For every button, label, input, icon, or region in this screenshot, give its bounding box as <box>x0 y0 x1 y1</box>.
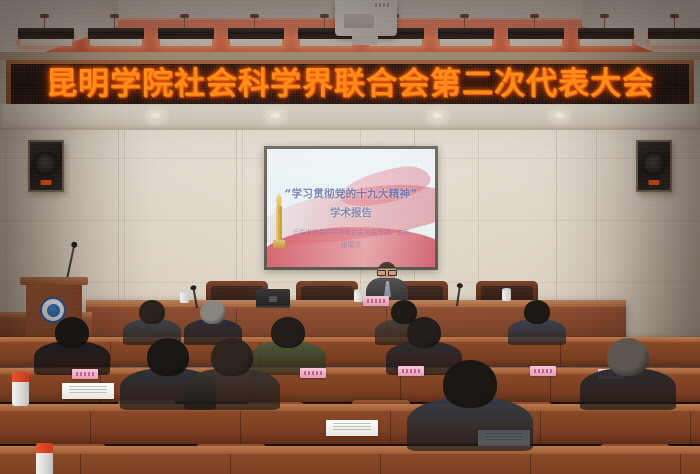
slide-subtitle: 学术报告 <box>267 205 435 220</box>
person-head <box>211 338 253 376</box>
glasses-icon <box>377 270 397 274</box>
thermos-lid <box>12 372 29 382</box>
slide-presenter-line: 云南省社会科学界联合会党组书记、主席 <box>267 227 435 239</box>
recessed-downlight <box>268 112 283 120</box>
desk-seam <box>230 454 231 474</box>
slide-presenter-name: 张瑞才 <box>267 239 435 252</box>
ceiling-light-fixture <box>578 28 634 48</box>
desk-seam <box>690 411 691 444</box>
desk-seam <box>380 454 381 474</box>
audience-desk-row <box>0 446 700 474</box>
podium-top <box>20 277 88 285</box>
person-head <box>443 360 497 408</box>
projection-screen-surface: “学习贯彻党的十九大精神” 学术报告 云南省社会科学界联合会党组书记、主席 张瑞… <box>267 149 435 267</box>
audience-person <box>407 360 533 462</box>
person-head <box>407 317 441 348</box>
person-head <box>524 300 550 324</box>
audience-person <box>184 338 280 418</box>
wall-speaker-right <box>636 140 672 192</box>
recessed-downlight <box>430 112 445 120</box>
person-head <box>607 338 649 376</box>
person-head <box>139 300 165 324</box>
desk-seam <box>110 342 111 367</box>
ceiling-light-fixture <box>18 28 74 48</box>
speaker-cone-icon <box>34 152 58 176</box>
desk-seam <box>80 454 81 474</box>
slide-title: “学习贯彻党的十九大精神” <box>267 187 435 202</box>
projection-screen: “学习贯彻党的十九大精神” 学术报告 云南省社会科学界联合会党组书记、主席 张瑞… <box>264 146 438 270</box>
banner-title-text: 昆明学院社会科学界联合会第二次代表大会 <box>46 69 654 100</box>
ceiling-light-fixture <box>438 28 494 48</box>
person-head <box>147 338 189 376</box>
recessed-downlight <box>552 112 567 120</box>
ceiling-light-fixture <box>648 28 700 48</box>
wall-speaker-left <box>28 140 64 192</box>
thermos-lid <box>36 443 53 453</box>
projector-mount <box>352 36 378 45</box>
ceiling-soffit <box>0 104 700 130</box>
desk-seam <box>680 454 681 474</box>
desk-seam <box>90 411 91 444</box>
person-head <box>200 300 226 324</box>
audience-person <box>508 300 566 350</box>
ceiling-light-fixture <box>88 28 144 48</box>
led-banner-frame: 昆明学院社会科学界联合会第二次代表大会 <box>6 60 694 108</box>
recessed-downlight <box>148 112 163 120</box>
desk-seam <box>550 374 551 402</box>
desk-seam <box>540 411 541 444</box>
ceiling-light-fixture <box>228 28 284 48</box>
ceiling-projector <box>335 0 397 36</box>
name-placard <box>300 368 326 378</box>
thermos-bottle <box>12 372 29 406</box>
person-head <box>55 317 89 348</box>
desk-top-edge <box>0 446 700 454</box>
audience-person <box>580 338 676 418</box>
speaker-brand-logo <box>41 180 52 185</box>
speaker-brand-logo <box>649 180 660 185</box>
thermos-bottle <box>36 443 53 474</box>
name-placard <box>72 369 98 379</box>
desk-seam <box>390 411 391 444</box>
open-notebook <box>326 420 378 436</box>
name-placard <box>530 366 556 376</box>
water-cup <box>354 291 363 302</box>
open-notebook <box>62 383 114 399</box>
ceiling-light-fixture <box>158 28 214 48</box>
led-banner-display: 昆明学院社会科学界联合会第二次代表大会 <box>11 64 689 104</box>
ceiling-light-fixture <box>508 28 564 48</box>
speaker-cone-icon <box>642 152 666 176</box>
conference-hall-photo: 昆明学院社会科学界联合会第二次代表大会 “学习贯彻党的十九大精神” 学术报告 云… <box>0 0 700 474</box>
laptop <box>256 289 290 308</box>
